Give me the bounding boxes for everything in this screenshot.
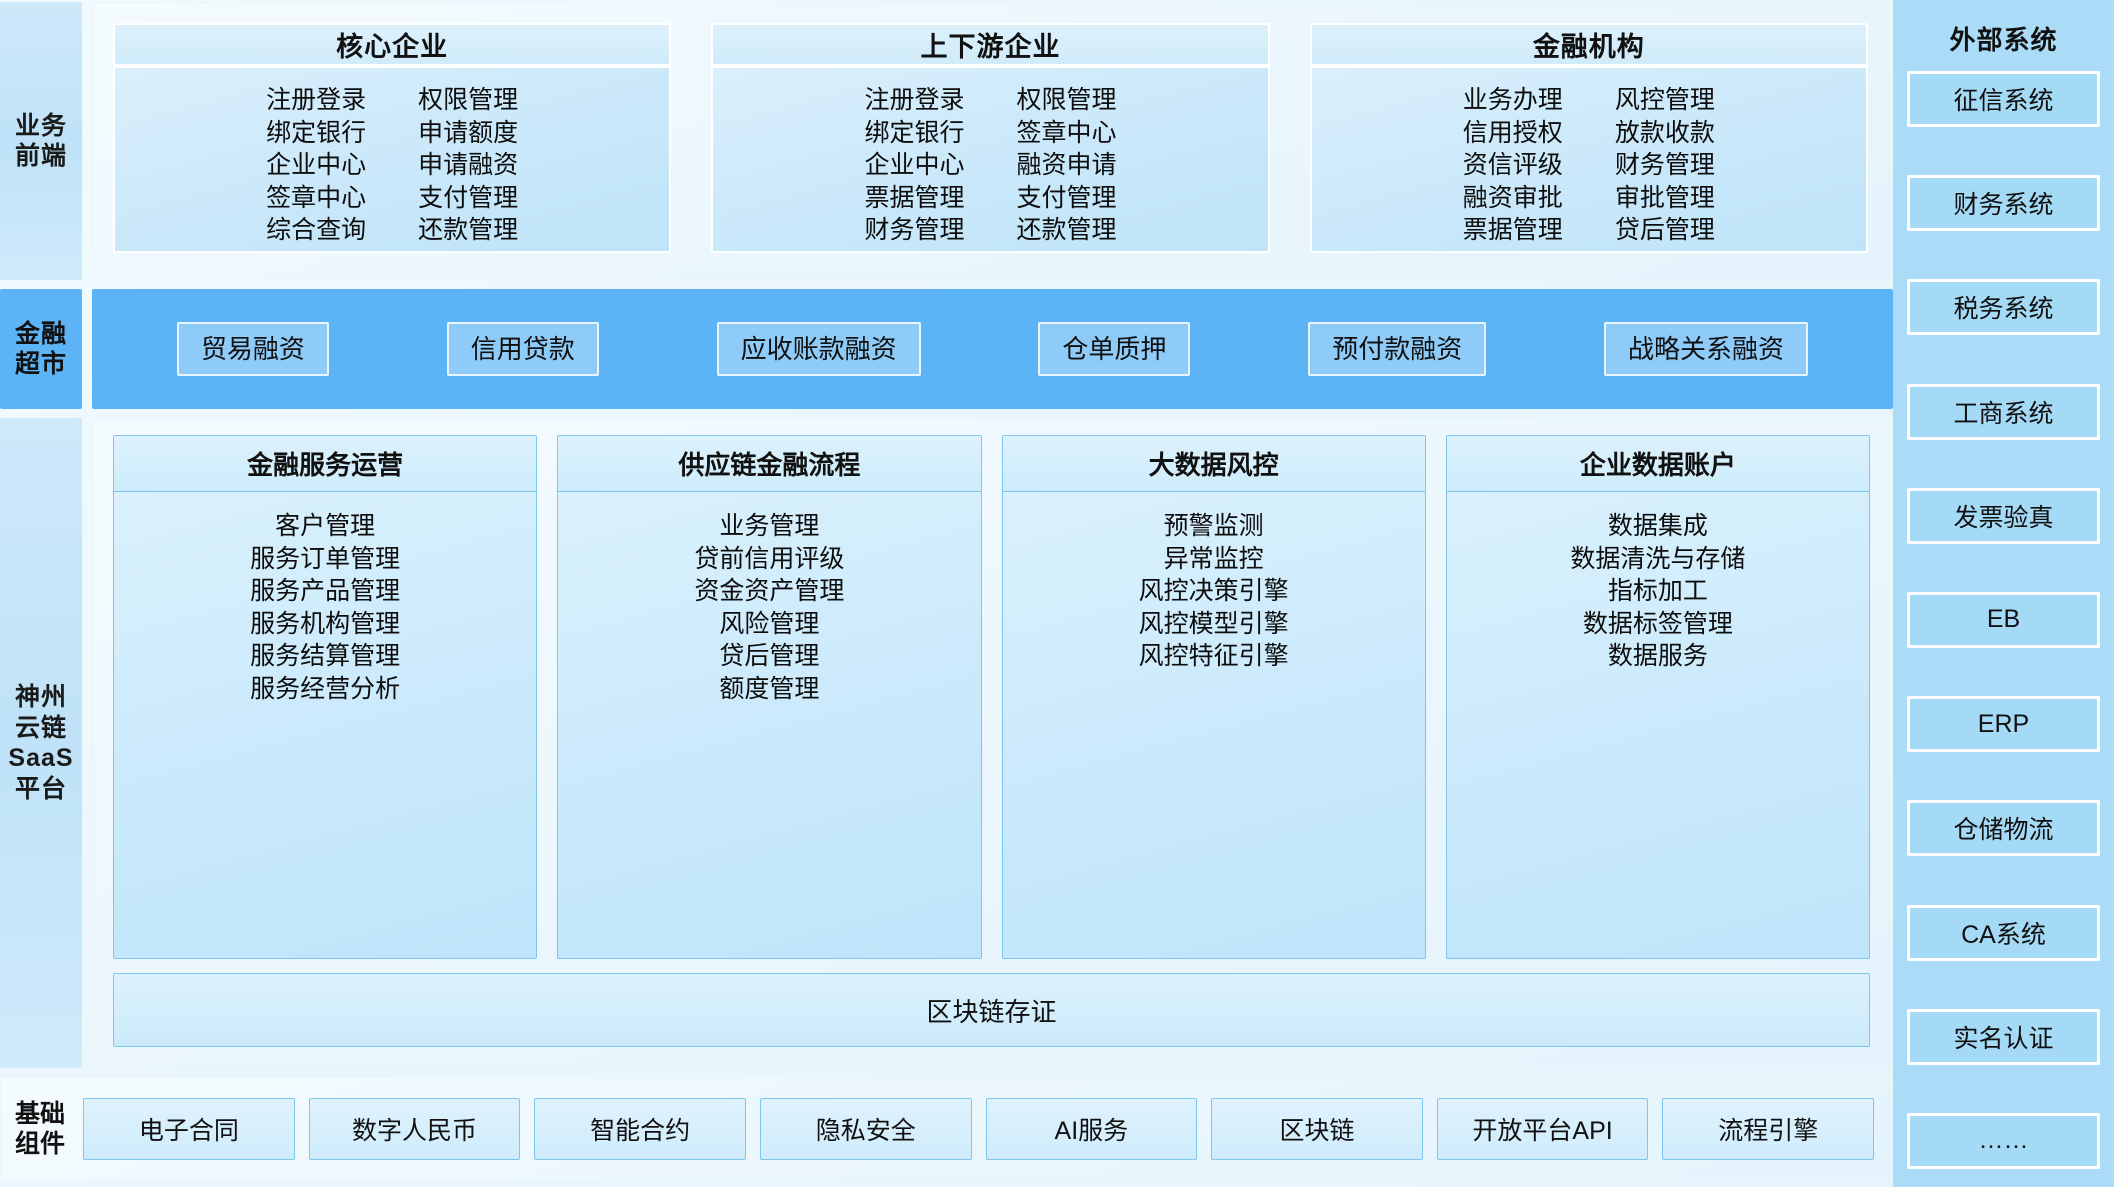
external-systems-list: 征信系统 财务系统 税务系统 工商系统 发票验真 EB ERP 仓储物流 CA系…: [1907, 71, 2100, 1175]
feature-item[interactable]: 业务管理: [719, 510, 819, 543]
feature-column-left: 注册登录 绑定银行 企业中心 票据管理 财务管理: [864, 84, 964, 247]
band-label-line: 平台: [8, 774, 73, 805]
feature-item[interactable]: 客户管理: [275, 510, 375, 543]
feature-item[interactable]: 还款管理: [418, 214, 518, 247]
feature-item[interactable]: 指标加工: [1608, 575, 1708, 608]
card-title: 供应链金融流程: [558, 436, 980, 492]
feature-column-left: 业务办理 信用授权 资信评级 融资审批 票据管理: [1463, 84, 1563, 247]
feature-item[interactable]: 放款收款: [1615, 117, 1715, 150]
card-title: 企业数据账户: [1447, 436, 1869, 492]
product-chip-warehouse-receipt-pledge[interactable]: 仓单质押: [1038, 322, 1190, 376]
feature-item[interactable]: 申请额度: [418, 117, 518, 150]
external-systems-sidebar: 外部系统 征信系统 财务系统 税务系统 工商系统 发票验真 EB ERP 仓储物…: [1893, 0, 2114, 1187]
product-chip-receivables-finance[interactable]: 应收账款融资: [717, 322, 921, 376]
external-system-eb[interactable]: EB: [1907, 592, 2100, 648]
feature-item[interactable]: 资信评级: [1463, 149, 1563, 182]
external-system-tax[interactable]: 税务系统: [1907, 279, 2100, 335]
card-title: 大数据风控: [1003, 436, 1425, 492]
feature-item[interactable]: 服务结算管理: [250, 640, 400, 673]
feature-column-right: 权限管理 申请额度 申请融资 支付管理 还款管理: [418, 84, 518, 247]
feature-column-right: 风控管理 放款收款 财务管理 审批管理 贷后管理: [1615, 84, 1715, 247]
feature-item[interactable]: 贷前信用评级: [694, 543, 844, 576]
card-big-data-risk-control[interactable]: 大数据风控 预警监测 异常监控 风控决策引擎 风控模型引擎 风控特征引擎: [1002, 435, 1426, 959]
feature-item[interactable]: 绑定银行: [864, 117, 964, 150]
band-label-line: 云链: [8, 713, 73, 744]
band-financial-supermarket: 金融 超市 贸易融资 信用贷款 应收账款融资 仓单质押 预付款融资 战略关系融资: [0, 289, 1893, 409]
base-components-panel: 基础 组件 电子合同 数字人民币 智能合约 隐私安全 AI服务 区块链 开放平台…: [0, 1077, 1893, 1181]
feature-item[interactable]: 风控管理: [1615, 84, 1715, 117]
band-label-line: 业务: [15, 111, 67, 142]
feature-item[interactable]: 权限管理: [1016, 84, 1116, 117]
card-upstream-downstream-enterprise[interactable]: 上下游企业 注册登录 绑定银行 企业中心 票据管理 财务管理 权限管理: [711, 23, 1269, 253]
feature-item[interactable]: 支付管理: [1016, 182, 1116, 215]
base-components-label-line: 基础: [15, 1099, 65, 1129]
feature-item[interactable]: 数据服务: [1608, 640, 1708, 673]
card-financial-service-operation[interactable]: 金融服务运营 客户管理 服务订单管理 服务产品管理 服务机构管理 服务结算管理 …: [113, 435, 537, 959]
component-chip-ai-service[interactable]: AI服务: [986, 1098, 1198, 1160]
feature-item[interactable]: 票据管理: [864, 182, 964, 215]
external-system-real-name-auth[interactable]: 实名认证: [1907, 1009, 2100, 1065]
feature-item[interactable]: 资金资产管理: [694, 575, 844, 608]
external-system-more[interactable]: ……: [1907, 1113, 2100, 1169]
feature-item[interactable]: 签章中心: [266, 182, 366, 215]
feature-item[interactable]: 异常监控: [1164, 543, 1264, 576]
feature-item[interactable]: 风控特征引擎: [1139, 640, 1289, 673]
external-system-invoice-verification[interactable]: 发票验真: [1907, 488, 2100, 544]
feature-item[interactable]: 服务产品管理: [250, 575, 400, 608]
blockchain-evidence-bar[interactable]: 区块链存证: [113, 973, 1870, 1047]
band-label-saas-platform: 神州 云链 SaaS 平台: [0, 418, 82, 1068]
saas-platform-panel: 金融服务运营 客户管理 服务订单管理 服务产品管理 服务机构管理 服务结算管理 …: [92, 418, 1893, 1068]
business-frontend-panel: 核心企业 注册登录 绑定银行 企业中心 签章中心 综合查询 权限管理: [92, 2, 1893, 280]
card-enterprise-data-account[interactable]: 企业数据账户 数据集成 数据清洗与存储 指标加工 数据标签管理 数据服务: [1446, 435, 1870, 959]
feature-item[interactable]: 数据集成: [1608, 510, 1708, 543]
band-business-frontend: 业务 前端 核心企业 注册登录 绑定银行 企业中心 签章中心: [0, 2, 1893, 280]
feature-item[interactable]: 数据标签管理: [1583, 608, 1733, 641]
card-core-enterprise[interactable]: 核心企业 注册登录 绑定银行 企业中心 签章中心 综合查询 权限管理: [113, 23, 671, 253]
base-components-label: 基础 组件: [15, 1099, 69, 1159]
component-chip-blockchain[interactable]: 区块链: [1211, 1098, 1423, 1160]
feature-item[interactable]: 风险管理: [719, 608, 819, 641]
component-chip-process-engine[interactable]: 流程引擎: [1662, 1098, 1874, 1160]
external-system-credit-reporting[interactable]: 征信系统: [1907, 71, 2100, 127]
external-system-warehouse-logistics[interactable]: 仓储物流: [1907, 800, 2100, 856]
component-chip-privacy-security[interactable]: 隐私安全: [760, 1098, 972, 1160]
band-label-line: 金融: [15, 319, 67, 350]
feature-item[interactable]: 信用授权: [1463, 117, 1563, 150]
card-title: 金融服务运营: [114, 436, 536, 492]
feature-item[interactable]: 财务管理: [864, 214, 964, 247]
external-system-finance[interactable]: 财务系统: [1907, 175, 2100, 231]
feature-item[interactable]: 企业中心: [266, 149, 366, 182]
feature-column-left: 注册登录 绑定银行 企业中心 签章中心 综合查询: [266, 84, 366, 247]
feature-item[interactable]: 服务机构管理: [250, 608, 400, 641]
feature-item[interactable]: 融资申请: [1016, 149, 1116, 182]
feature-item[interactable]: 申请融资: [418, 149, 518, 182]
feature-item[interactable]: 风控模型引擎: [1139, 608, 1289, 641]
card-financial-institution[interactable]: 金融机构 业务办理 信用授权 资信评级 融资审批 票据管理 风控管理: [1310, 23, 1868, 253]
component-chip-e-contract[interactable]: 电子合同: [83, 1098, 295, 1160]
card-title: 核心企业: [115, 25, 669, 68]
feature-item[interactable]: 还款管理: [1016, 214, 1116, 247]
feature-item[interactable]: 风控决策引擎: [1139, 575, 1289, 608]
feature-item[interactable]: 财务管理: [1615, 149, 1715, 182]
financial-supermarket-panel: 贸易融资 信用贷款 应收账款融资 仓单质押 预付款融资 战略关系融资: [92, 289, 1893, 409]
external-systems-title: 外部系统: [1949, 4, 2057, 71]
feature-item[interactable]: 贷后管理: [719, 640, 819, 673]
band-label-line: SaaS: [8, 743, 73, 774]
feature-item[interactable]: 签章中心: [1016, 117, 1116, 150]
external-system-business-registration[interactable]: 工商系统: [1907, 384, 2100, 440]
feature-column-right: 权限管理 签章中心 融资申请 支付管理 还款管理: [1016, 84, 1116, 247]
product-chip-trade-finance[interactable]: 贸易融资: [177, 322, 329, 376]
feature-item[interactable]: 绑定银行: [266, 117, 366, 150]
component-chip-smart-contract[interactable]: 智能合约: [534, 1098, 746, 1160]
product-chip-strategic-relationship-finance[interactable]: 战略关系融资: [1604, 322, 1808, 376]
external-system-erp[interactable]: ERP: [1907, 696, 2100, 752]
base-components-label-line: 组件: [15, 1129, 65, 1159]
band-label-line: 超市: [15, 349, 67, 380]
feature-item[interactable]: 预警监测: [1164, 510, 1264, 543]
feature-item[interactable]: 数据清洗与存储: [1570, 543, 1745, 576]
feature-item[interactable]: 贷后管理: [1615, 214, 1715, 247]
band-saas-platform: 神州 云链 SaaS 平台 金融服务运营 客户管理 服务订单管理 服务产: [0, 418, 1893, 1068]
feature-item[interactable]: 额度管理: [719, 673, 819, 706]
feature-item[interactable]: 业务办理: [1463, 84, 1563, 117]
card-title: 上下游企业: [713, 25, 1267, 68]
feature-item[interactable]: 综合查询: [266, 214, 366, 247]
feature-item[interactable]: 支付管理: [418, 182, 518, 215]
product-chip-credit-loan[interactable]: 信用贷款: [447, 322, 599, 376]
architecture-diagram: 业务 前端 核心企业 注册登录 绑定银行 企业中心 签章中心: [0, 0, 2114, 1187]
band-base-components: 基础 组件 电子合同 数字人民币 智能合约 隐私安全 AI服务 区块链 开放平台…: [0, 1077, 1893, 1181]
feature-item[interactable]: 权限管理: [418, 84, 518, 117]
band-label-line: 前端: [15, 141, 67, 172]
band-label-financial-supermarket: 金融 超市: [0, 289, 82, 409]
feature-item[interactable]: 注册登录: [266, 84, 366, 117]
band-label-business-frontend: 业务 前端: [0, 2, 82, 280]
main-column: 业务 前端 核心企业 注册登录 绑定银行 企业中心 签章中心: [0, 0, 1893, 1187]
feature-item[interactable]: 融资审批: [1463, 182, 1563, 215]
feature-item[interactable]: 企业中心: [864, 149, 964, 182]
feature-item[interactable]: 服务经营分析: [250, 673, 400, 706]
feature-item[interactable]: 注册登录: [864, 84, 964, 117]
band-label-line: 神州: [8, 682, 73, 713]
feature-item[interactable]: 票据管理: [1463, 214, 1563, 247]
component-chip-open-platform-api[interactable]: 开放平台API: [1437, 1098, 1649, 1160]
card-title: 金融机构: [1312, 25, 1866, 68]
card-supply-chain-finance-process[interactable]: 供应链金融流程 业务管理 贷前信用评级 资金资产管理 风险管理 贷后管理 额度管…: [557, 435, 981, 959]
product-chip-prepayment-finance[interactable]: 预付款融资: [1308, 322, 1486, 376]
feature-item[interactable]: 审批管理: [1615, 182, 1715, 215]
component-chip-digital-rmb[interactable]: 数字人民币: [309, 1098, 521, 1160]
external-system-ca[interactable]: CA系统: [1907, 905, 2100, 961]
feature-item[interactable]: 服务订单管理: [250, 543, 400, 576]
